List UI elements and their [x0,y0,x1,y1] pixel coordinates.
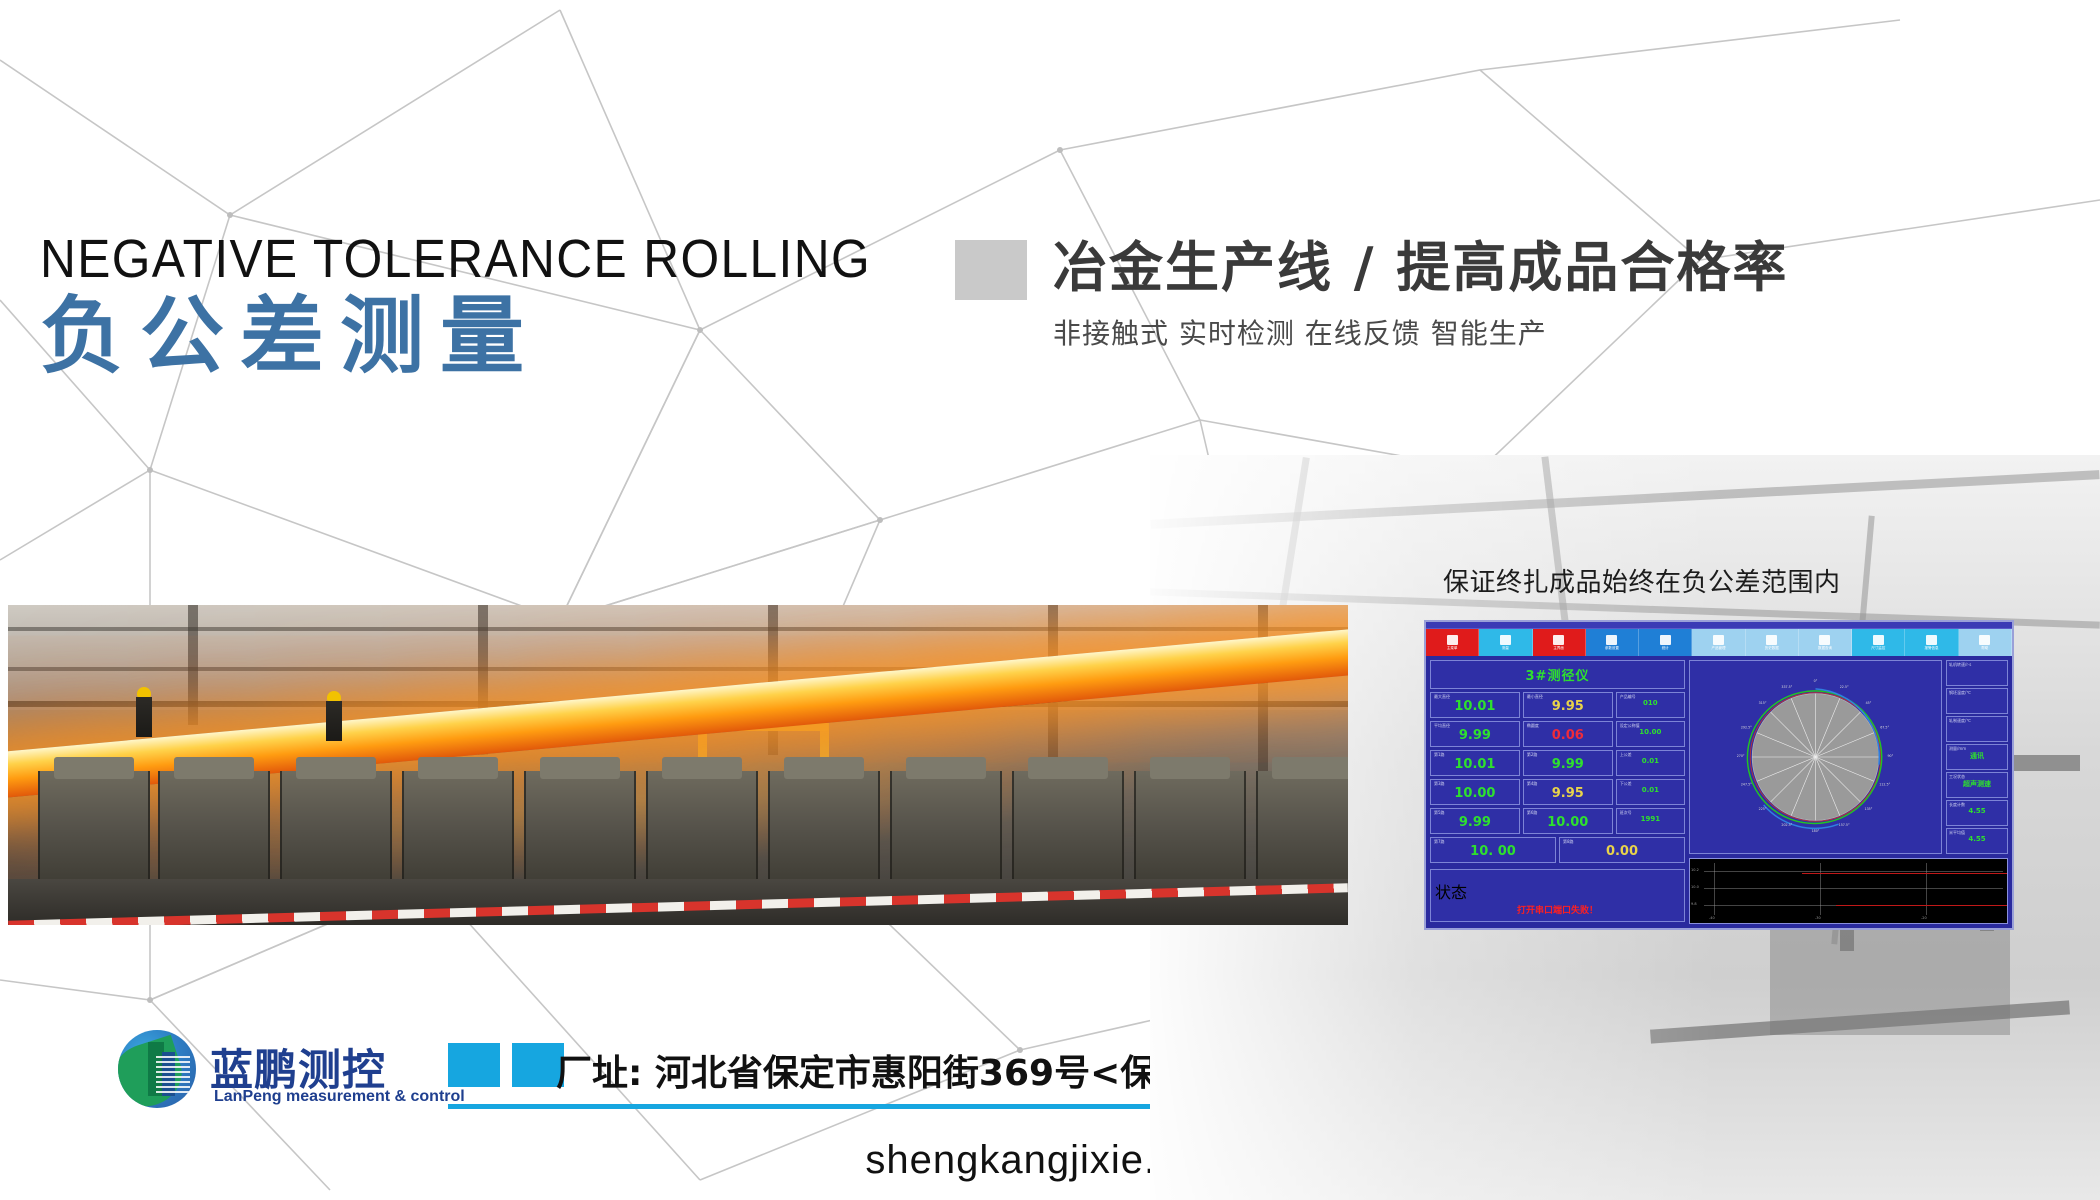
stop-icon [1447,635,1458,645]
status-panel-value: 通讯 [1950,751,2004,761]
worker-figure [136,697,152,737]
hero-chinese-subline: 非接触式 实时检测 在线反馈 智能生产 [1053,312,1788,352]
toolbar-button-label: 产品管理 [1711,646,1725,651]
toolbar-button-label: 尺寸监控 [1871,646,1885,651]
status-panel: 工况状态超声测速 [1946,772,2008,798]
status-panel-label: 测量/mm [1949,746,1966,752]
measurement-cell: 第2路9.99 [1523,750,1613,776]
status-panel: 钢坯温度/℃ [1946,688,2008,714]
measurement-cell-label: 班次号 [1620,810,1632,816]
worker-figure [326,701,342,741]
status-panel-label: 轧制速度/℃ [1949,718,1971,724]
table-icon [1766,635,1777,645]
measurement-cell-value: 1991 [1621,816,1680,823]
status-alert-label: 状态 [1435,883,1467,902]
status-panels: 轧机转速/r·s钢坯温度/℃轧制速度/℃测量/mm通讯工况状态超声测速长度计数4… [1946,660,2008,854]
measurement-cell: 班次号1991 [1616,808,1685,834]
toolbar-button-label: 报警信息 [1925,646,1939,651]
hmi-toolbar[interactable]: 主菜单测量主界面参数设置统计产品管理历史数据数据查询尺寸监控报警信息帮助 [1426,629,2012,656]
status-panel: 轧制速度/℃ [1946,716,2008,742]
footer [0,1015,2100,1200]
toolbar-button[interactable]: 数据查询 [1799,629,1852,656]
measurement-cell-value: 10.00 [1621,729,1680,736]
measurement-cell-label: 平均直径 [1434,723,1450,729]
measurement-cell: 第3路10.00 [1430,779,1520,805]
measurement-cell-label: 第8路 [1563,839,1574,845]
toolbar-button-label: 数据查询 [1818,646,1832,651]
trend-series-line [1802,873,2008,874]
measurement-cell-value: 0.01 [1621,758,1680,765]
gridline-vertical [1820,863,1821,915]
toolbar-button[interactable]: 统计 [1639,629,1692,656]
table-row: 平均直径9.99椭圆度0.06设定公称值10.00 [1430,721,1685,747]
gridline-horizontal [1704,888,2003,889]
hmi-screen-title: 3#测径仪 [1430,660,1685,689]
measurement-cell-label: 第5路 [1434,810,1445,816]
measurement-cell-value: 010 [1621,700,1680,707]
toolbar-button[interactable]: 测量 [1479,629,1532,656]
measurement-cell-label: 椭圆度 [1527,723,1539,729]
status-panel-value: 4.55 [1950,835,2004,843]
measurement-cell-value: 9.99 [1528,758,1608,771]
toolbar-button-label: 帮助 [1981,646,1988,651]
gauge-tick-label: 270° [1737,754,1745,758]
status-panel: 长度计数4.55 [1946,800,2008,826]
status-panel-label: 钢坯温度/℃ [1949,690,1971,696]
gauge-tick-label: 90° [1887,754,1893,758]
status-panel: 测量/mm通讯 [1946,744,2008,770]
measurement-cell: 第1路10.01 [1430,750,1520,776]
gauge-tick-label: 67.5° [1880,725,1889,729]
monitor-icon [1873,635,1884,645]
measurement-cell-value: 0.00 [1564,845,1680,858]
trend-y-tick: 10.0 [1691,885,1699,889]
status-panel-label: 米平均值 [1949,830,1965,836]
status-panel-label: 长度计数 [1949,802,1965,808]
measurement-cell-value: 0.01 [1621,787,1680,794]
toolbar-button[interactable]: 报警信息 [1905,629,1958,656]
polar-plot-svg: 0°22.5°45°67.5°90°112.5°135°157.5°180°20… [1690,661,1941,853]
trend-y-tick: 10.2 [1691,868,1699,872]
status-panel-value: 超声测速 [1950,779,2004,789]
table-row: 第1路10.01第2路9.99上公差0.01 [1430,750,1685,776]
measurement-cell-value: 9.95 [1528,787,1608,800]
status-alert: 状态 打开串口端口失败！ [1430,869,1685,922]
status-panel-label: 工况状态 [1949,774,1965,780]
bell-icon [1926,635,1937,645]
measurement-cell: 设定公称值10.00 [1616,721,1685,747]
diameter-trend-chart: 10.210.09.8-40-30-20-100 [1689,858,2008,924]
gauge-tick-label: 135° [1865,807,1873,811]
measurement-cell: 最小直径9.95 [1523,692,1613,718]
measurement-cell-value: 0.06 [1528,729,1608,742]
status-panel: 轧机转速/r·s [1946,660,2008,686]
measurement-cell: 第5路9.99 [1430,808,1520,834]
measurement-cell-label: 第1路 [1434,752,1445,758]
measurement-cell-label: 产品编号 [1620,694,1636,700]
gridline-horizontal [1704,871,2003,872]
trend-x-tick: -30 [1815,916,1821,920]
measurement-cell-label: 最小直径 [1527,694,1543,700]
gauge-tick-label: 315° [1759,701,1767,705]
gridline-vertical [1714,863,1715,915]
params-icon [1606,635,1617,645]
wave-icon [1500,635,1511,645]
gray-square-marker [955,240,1027,300]
gauge-tick-label: 225° [1759,807,1767,811]
gauge-tick-label: 337.5° [1781,685,1792,689]
measurement-cell: 椭圆度0.06 [1523,721,1613,747]
toolbar-button[interactable]: 历史数据 [1746,629,1799,656]
trend-series-line [1836,905,2008,906]
toolbar-button[interactable]: 主界面 [1533,629,1586,656]
gauge-tick-label: 247.5° [1741,783,1752,787]
measurement-cell: 第6路10.00 [1523,808,1613,834]
hmi-titlebar [1426,622,2012,629]
measurement-cell-value: 10.01 [1435,758,1515,771]
toolbar-button-label: 测量 [1502,646,1509,651]
toolbar-button[interactable]: 参数设置 [1586,629,1639,656]
gauge-tick-label: 22.5° [1840,685,1849,689]
hero-chinese-title: 负公差测量 [40,292,943,380]
gauge-tick-label: 112.5° [1879,783,1890,787]
gridline-vertical [1926,863,1927,915]
trend-x-tick: -40 [1709,916,1715,920]
measurement-cell: 第4路9.95 [1523,779,1613,805]
table-row: 第5路9.99第6路10.00班次号1991 [1430,808,1685,834]
measurement-cell: 下公差0.01 [1616,779,1685,805]
measurement-cell: 第7路10. 00 [1430,837,1556,863]
hero-english-title: NEGATIVE TOLERANCE ROLLING [40,232,871,286]
query-icon [1819,635,1830,645]
gauge-tick-label: 157.5° [1839,823,1850,827]
measurement-cell-label: 第2路 [1527,752,1538,758]
measurement-cell: 平均直径9.99 [1430,721,1520,747]
hmi-caption: 保证终扎成品始终在负公差范围内 [1443,562,1841,599]
status-panel-label: 轧机转速/r·s [1949,662,1971,668]
measurement-table: 3#测径仪 最大直径10.01最小直径9.95产品编号010平均直径9.99椭圆… [1430,660,1685,924]
trend-x-tick: -20 [1921,916,1927,920]
measurement-cell-value: 10.01 [1435,700,1515,713]
toolbar-button-label: 主界面 [1553,646,1564,651]
measurement-cell-value: 10. 00 [1435,845,1551,858]
measurement-cell-label: 下公差 [1620,781,1632,787]
measurement-cell-label: 第6路 [1527,810,1538,816]
measurement-cell-value: 10.00 [1528,816,1608,829]
toolbar-button[interactable]: 产品管理 [1692,629,1745,656]
measurement-cell-label: 第4路 [1527,781,1538,787]
toolbar-button[interactable]: 主菜单 [1426,629,1479,656]
help-icon [1979,635,1990,645]
gauge-tick-label: 292.5° [1741,725,1752,729]
roundness-polar-plot: 0°22.5°45°67.5°90°112.5°135°157.5°180°20… [1689,660,1942,854]
table-row: 最大直径10.01最小直径9.95产品编号010 [1430,692,1685,718]
gauge-tick-label: 202.5° [1781,823,1792,827]
gauge-tick-label: 45° [1866,701,1872,705]
measurement-cell-label: 上公差 [1620,752,1632,758]
hero-chinese-headline: 冶金生产线 / 提高成品合格率 [1053,240,1788,297]
hero-right-headline: 冶金生产线 / 提高成品合格率 非接触式 实时检测 在线反馈 智能生产 [955,240,1788,352]
measurement-cell-value: 9.99 [1435,816,1515,829]
measurement-cell: 第8路0.00 [1559,837,1685,863]
status-panel: 米平均值4.55 [1946,828,2008,854]
measurement-cell-label: 最大直径 [1434,694,1450,700]
table-row: 第7路10. 00第8路0.00 [1430,837,1685,863]
status-panel-value: 4.55 [1950,807,2004,815]
measurement-cell: 产品编号010 [1616,692,1685,718]
status-alert-value: 打开串口端口失败！ [1435,903,1680,916]
hmi-screenshot: 主菜单测量主界面参数设置统计产品管理历史数据数据查询尺寸监控报警信息帮助 3#测… [1424,620,2014,930]
gauge-tick-label: 0° [1814,679,1818,683]
toolbar-button-label: 统计 [1662,646,1669,651]
toolbar-button-label: 参数设置 [1605,646,1619,651]
measurement-cell-label: 第7路 [1434,839,1445,845]
toolbar-button-label: 主菜单 [1447,646,1458,651]
measurement-cell: 上公差0.01 [1616,750,1685,776]
trend-y-tick: 9.8 [1691,902,1697,906]
gauge-tick-label: 180° [1812,829,1820,833]
measurement-cell-label: 第3路 [1434,781,1445,787]
measurement-cell-value: 9.99 [1435,729,1515,742]
steel-mill-photo [8,605,1348,925]
measurement-cell-label: 设定公称值 [1620,723,1640,729]
table-row: 第3路10.00第4路9.95下公差0.01 [1430,779,1685,805]
measurement-cell-value: 10.00 [1435,787,1515,800]
home-icon [1553,635,1564,645]
toolbar-button[interactable]: 尺寸监控 [1852,629,1905,656]
hero-left-headline: NEGATIVE TOLERANCE ROLLING 负公差测量 [40,232,943,380]
grid-icon [1713,635,1724,645]
toolbar-button[interactable]: 帮助 [1959,629,2012,656]
measurement-cell-value: 9.95 [1528,700,1608,713]
measurement-cell: 最大直径10.01 [1430,692,1520,718]
toolbar-button-label: 历史数据 [1765,646,1779,651]
bars-icon [1660,635,1671,645]
